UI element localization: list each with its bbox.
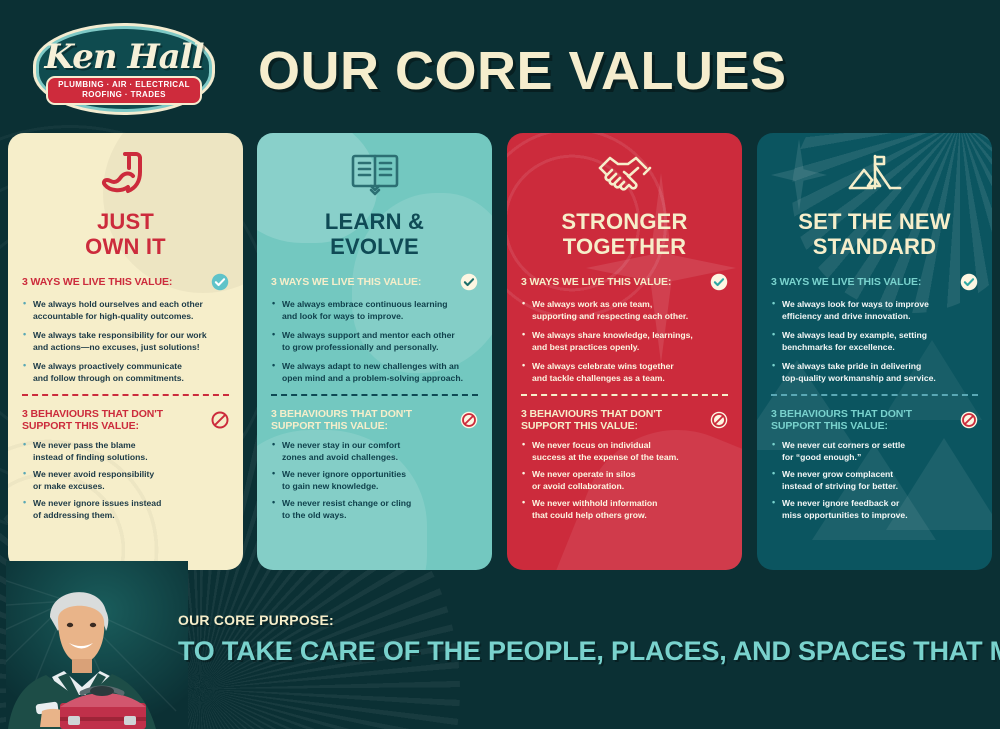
card-divider xyxy=(521,394,728,396)
ken-hall-logo[interactable]: Ken Hall PLUMBING · AIR · ELECTRICAL ROO… xyxy=(36,26,212,112)
core-purpose-block: OUR CORE PURPOSE: TO TAKE CARE OF THE PE… xyxy=(178,612,1000,667)
list-item: We never avoid responsibility or make ex… xyxy=(22,469,229,492)
list-item: We always look for ways to improve effic… xyxy=(771,299,978,322)
donts-section-header: 3 BEHAVIOURS THAT DON'T SUPPORT THIS VAL… xyxy=(771,408,978,432)
list-item: We always lead by example, setting bench… xyxy=(771,330,978,353)
card-title: SET THE NEW STANDARD xyxy=(771,209,978,259)
ways-label: 3 WAYS WE LIVE THIS VALUE: xyxy=(271,276,421,288)
donts-label: 3 BEHAVIOURS THAT DON'T SUPPORT THIS VAL… xyxy=(521,408,662,432)
donts-list: We never pass the blame instead of findi… xyxy=(22,440,229,521)
check-circle-icon xyxy=(460,273,478,291)
list-item: We never stay in our comfort zones and a… xyxy=(271,440,478,463)
list-item: We always take pride in delivering top-q… xyxy=(771,361,978,384)
list-item: We never operate in silos or avoid colla… xyxy=(521,469,728,492)
list-item: We always work as one team, supporting a… xyxy=(521,299,728,322)
ways-label: 3 WAYS WE LIVE THIS VALUE: xyxy=(22,276,172,288)
donts-label: 3 BEHAVIOURS THAT DON'T SUPPORT THIS VAL… xyxy=(271,408,412,432)
ways-label: 3 WAYS WE LIVE THIS VALUE: xyxy=(771,276,921,288)
logo-tagline: PLUMBING · AIR · ELECTRICAL ROOFING · TR… xyxy=(46,76,202,105)
list-item: We never pass the blame instead of findi… xyxy=(22,440,229,463)
ways-section-header: 3 WAYS WE LIVE THIS VALUE: xyxy=(521,273,728,291)
prohibition-icon xyxy=(460,411,478,429)
list-item: We always support and mentor each other … xyxy=(271,330,478,353)
card-divider xyxy=(271,394,478,396)
card-title: STRONGER TOGETHER xyxy=(521,209,728,259)
ways-list: We always look for ways to improve effic… xyxy=(771,299,978,384)
value-card-just-own-it[interactable]: JUST OWN IT 3 WAYS WE LIVE THIS VALUE: W… xyxy=(8,133,243,570)
ways-section-header: 3 WAYS WE LIVE THIS VALUE: xyxy=(771,273,978,291)
value-card-stronger-together[interactable]: STRONGER TOGETHER 3 WAYS WE LIVE THIS VA… xyxy=(507,133,742,570)
donts-list: We never cut corners or settle for “good… xyxy=(771,440,978,521)
list-item: We never grow complacent instead of stri… xyxy=(771,469,978,492)
prohibition-icon xyxy=(960,411,978,429)
logo-wordmark: Ken Hall xyxy=(36,37,212,77)
donts-list: We never stay in our comfort zones and a… xyxy=(271,440,478,521)
technician-illustration xyxy=(6,561,188,729)
card-divider xyxy=(22,394,229,396)
value-cards-container: JUST OWN IT 3 WAYS WE LIVE THIS VALUE: W… xyxy=(0,133,1000,570)
ways-label: 3 WAYS WE LIVE THIS VALUE: xyxy=(521,276,671,288)
donts-label: 3 BEHAVIOURS THAT DON'T SUPPORT THIS VAL… xyxy=(771,408,912,432)
flexed-bicep-icon xyxy=(22,145,229,203)
list-item: We never ignore opportunities to gain ne… xyxy=(271,469,478,492)
donts-label: 3 BEHAVIOURS THAT DON'T SUPPORT THIS VAL… xyxy=(22,408,163,432)
list-item: We always share knowledge, learnings, an… xyxy=(521,330,728,353)
list-item: We always adapt to new challenges with a… xyxy=(271,361,478,384)
list-item: We always take responsibility for our wo… xyxy=(22,330,229,353)
list-item: We never withhold information that could… xyxy=(521,498,728,521)
open-book-icon xyxy=(271,145,478,203)
ways-section-header: 3 WAYS WE LIVE THIS VALUE: xyxy=(271,273,478,291)
core-values-poster: Ken Hall PLUMBING · AIR · ELECTRICAL ROO… xyxy=(0,0,1000,729)
prohibition-icon xyxy=(710,411,728,429)
check-circle-icon xyxy=(960,273,978,291)
ways-list: We always hold ourselves and each other … xyxy=(22,299,229,384)
logo-tagline-line-1: PLUMBING · AIR · ELECTRICAL xyxy=(48,80,200,90)
page-title: OUR CORE VALUES xyxy=(258,40,787,102)
value-card-set-the-new-standard[interactable]: SET THE NEW STANDARD 3 WAYS WE LIVE THIS… xyxy=(757,133,992,570)
donts-section-header: 3 BEHAVIOURS THAT DON'T SUPPORT THIS VAL… xyxy=(271,408,478,432)
handshake-icon xyxy=(521,145,728,203)
value-card-learn-and-evolve[interactable]: LEARN & EVOLVE 3 WAYS WE LIVE THIS VALUE… xyxy=(257,133,492,570)
card-title: LEARN & EVOLVE xyxy=(271,209,478,259)
list-item: We never ignore feedback or miss opportu… xyxy=(771,498,978,521)
mountain-flag-icon xyxy=(771,145,978,203)
list-item: We never focus on individual success at … xyxy=(521,440,728,463)
list-item: We always embrace continuous learning an… xyxy=(271,299,478,322)
card-title: JUST OWN IT xyxy=(22,209,229,259)
check-circle-icon xyxy=(211,273,229,291)
list-item: We never cut corners or settle for “good… xyxy=(771,440,978,463)
core-purpose-label: OUR CORE PURPOSE: xyxy=(178,612,1000,628)
core-purpose-headline: TO TAKE CARE OF THE PEOPLE, PLACES, AND … xyxy=(178,636,1000,667)
list-item: We always proactively communicate and fo… xyxy=(22,361,229,384)
list-item: We always celebrate wins together and ta… xyxy=(521,361,728,384)
list-item: We never ignore issues instead of addres… xyxy=(22,498,229,521)
card-divider xyxy=(771,394,978,396)
donts-list: We never focus on individual success at … xyxy=(521,440,728,521)
donts-section-header: 3 BEHAVIOURS THAT DON'T SUPPORT THIS VAL… xyxy=(521,408,728,432)
ways-list: We always embrace continuous learning an… xyxy=(271,299,478,384)
prohibition-icon xyxy=(211,411,229,429)
list-item: We never resist change or cling to the o… xyxy=(271,498,478,521)
ways-list: We always work as one team, supporting a… xyxy=(521,299,728,384)
donts-section-header: 3 BEHAVIOURS THAT DON'T SUPPORT THIS VAL… xyxy=(22,408,229,432)
ways-section-header: 3 WAYS WE LIVE THIS VALUE: xyxy=(22,273,229,291)
logo-tagline-line-2: ROOFING · TRADES xyxy=(48,90,200,100)
check-circle-icon xyxy=(710,273,728,291)
list-item: We always hold ourselves and each other … xyxy=(22,299,229,322)
